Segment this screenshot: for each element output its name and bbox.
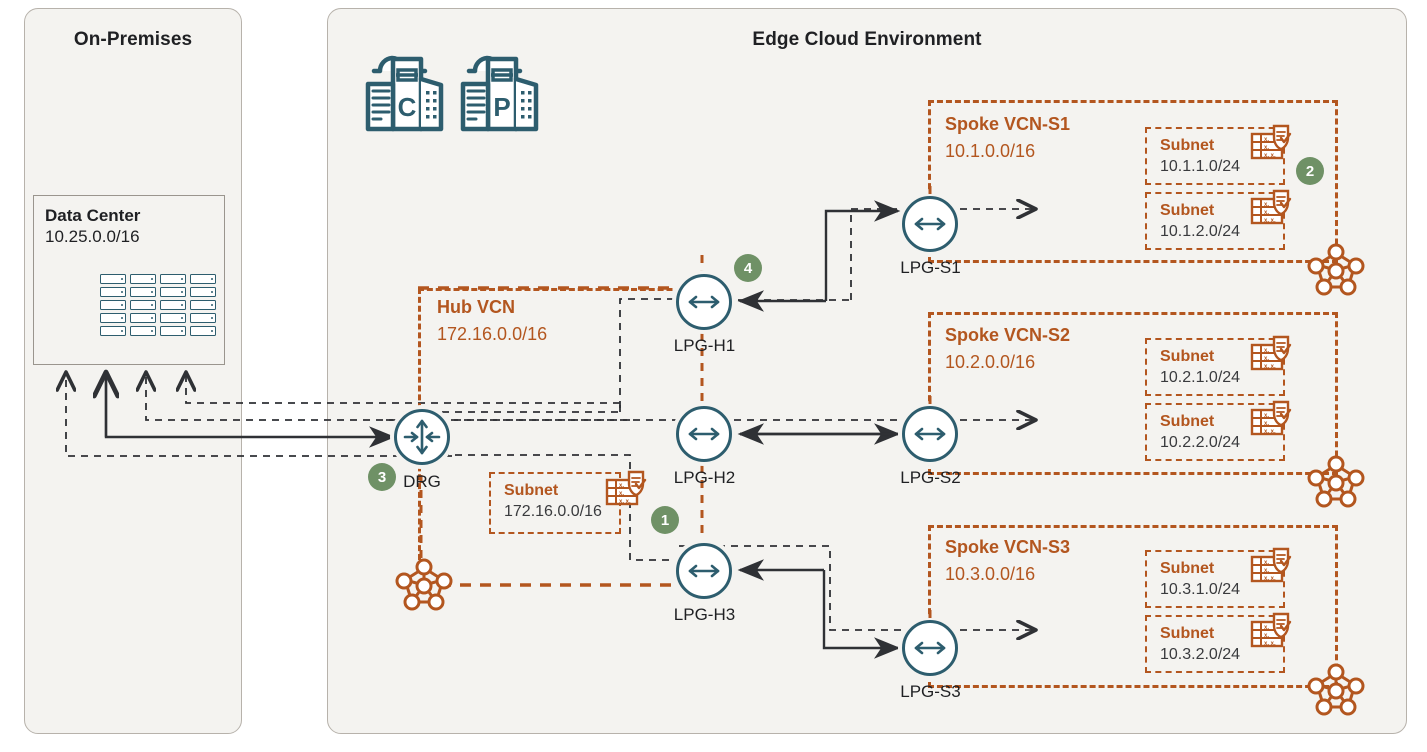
badge-1: 1 [651, 506, 679, 534]
lpg-h1-icon[interactable] [676, 274, 732, 330]
svg-text:x, x.: x, x. [1264, 218, 1276, 224]
drg-gateway-icon[interactable] [394, 409, 450, 465]
spoke-vcn-s1-name: Spoke VCN-S1 [945, 114, 1070, 135]
svg-text:x.: x. [1264, 413, 1269, 419]
svg-text:x.: x. [619, 491, 624, 497]
hub-subnet-cidr: 172.16.0.0/16 [504, 503, 602, 521]
svg-text:x.: x. [1264, 356, 1269, 362]
on-premises-panel: On-Premises [24, 8, 242, 734]
spoke-s1-subnet-1-security-list-icon: x.x.x, x. [1250, 122, 1294, 171]
data-center-cidr: 10.25.0.0/16 [45, 227, 140, 247]
badge-4: 4 [734, 254, 762, 282]
spoke-s2-subnet-1-label: Subnet [1160, 348, 1214, 366]
spoke-s3-subnet-2-cidr: 10.3.2.0/24 [1160, 646, 1240, 664]
svg-text:x.: x. [1264, 202, 1269, 208]
spoke-s1-subnet-2-label: Subnet [1160, 202, 1214, 220]
cloud-building-p-icon: P [455, 40, 541, 137]
spoke-s3-subnet-2-label: Subnet [1160, 625, 1214, 643]
lpg-h3-icon[interactable] [676, 543, 732, 599]
svg-text:x.: x. [1264, 137, 1269, 143]
svg-text:x, x.: x, x. [1264, 429, 1276, 435]
svg-text:x.: x. [1264, 210, 1269, 216]
spoke-vcn-s2-name: Spoke VCN-S2 [945, 325, 1070, 346]
svg-text:x.: x. [1264, 625, 1269, 631]
lpg-s2-vcn-link [890, 396, 980, 496]
svg-text:x.: x. [1264, 145, 1269, 151]
spoke-s1-subnet-1-cidr: 10.1.1.0/24 [1160, 158, 1240, 176]
diagram-canvas: On-Premises Edge Cloud Environment Data … [0, 0, 1427, 752]
spoke-s1-subnet-1-label: Subnet [1160, 137, 1214, 155]
route-table-s1-icon [1305, 240, 1367, 303]
hub-security-list-icon: x.x.x, x. [605, 468, 649, 517]
badge-3: 3 [368, 463, 396, 491]
route-table-hub-icon [393, 555, 455, 618]
svg-text:x.: x. [1264, 633, 1269, 639]
svg-text:x.: x. [1264, 568, 1269, 574]
on-premises-title: On-Premises [25, 29, 241, 51]
route-table-s3-icon [1305, 660, 1367, 723]
data-center-title: Data Center [45, 206, 140, 226]
spoke-s2-subnet-2-cidr: 10.2.2.0/24 [1160, 434, 1240, 452]
spoke-s3-subnet-1-label: Subnet [1160, 560, 1214, 578]
svg-text:C: C [398, 92, 417, 122]
hub-vcn-top-edge [404, 280, 704, 296]
server-rack-icon [100, 274, 216, 336]
svg-text:x, x.: x, x. [1264, 641, 1276, 647]
spoke-vcn-s1-cidr: 10.1.0.0/16 [945, 141, 1035, 162]
spoke-vcn-s3-cidr: 10.3.0.0/16 [945, 564, 1035, 585]
svg-text:x.: x. [1264, 560, 1269, 566]
svg-text:x, x.: x, x. [1264, 364, 1276, 370]
svg-text:P: P [493, 92, 510, 122]
hub-vcn-cidr: 172.16.0.0/16 [437, 324, 547, 345]
spoke-s3-subnet-1-security-list-icon: x.x.x, x. [1250, 545, 1294, 594]
lpg-h2-label: LPG-H2 [662, 468, 747, 488]
lpg-h2-icon[interactable] [676, 406, 732, 462]
spoke-s2-subnet-1-security-list-icon: x.x.x, x. [1250, 333, 1294, 382]
cloud-building-c-icon: C [360, 40, 446, 137]
spoke-s3-subnet-1-cidr: 10.3.1.0/24 [1160, 581, 1240, 599]
badge-2: 2 [1296, 157, 1324, 185]
svg-text:x.: x. [1264, 348, 1269, 354]
spoke-s1-subnet-2-security-list-icon: x.x.x, x. [1250, 187, 1294, 236]
svg-text:x.: x. [1264, 421, 1269, 427]
svg-text:x, x.: x, x. [619, 499, 631, 505]
hub-vcn-name: Hub VCN [437, 297, 515, 318]
route-table-s2-icon [1305, 452, 1367, 515]
hub-subnet-label: Subnet [504, 482, 558, 500]
data-center-box: Data Center 10.25.0.0/16 [33, 195, 225, 365]
hub-subnet-box: Subnet 172.16.0.0/16 [489, 472, 621, 534]
svg-text:x, x.: x, x. [1264, 153, 1276, 159]
spoke-s2-subnet-2-label: Subnet [1160, 413, 1214, 431]
spoke-s2-subnet-1-cidr: 10.2.1.0/24 [1160, 369, 1240, 387]
lpg-h1-label: LPG-H1 [662, 336, 747, 356]
lpg-s3-vcn-link [890, 610, 980, 710]
spoke-s2-subnet-2-security-list-icon: x.x.x, x. [1250, 398, 1294, 447]
spoke-s3-subnet-2-security-list-icon: x.x.x, x. [1250, 610, 1294, 659]
svg-text:x, x.: x, x. [1264, 576, 1276, 582]
spoke-vcn-s2-cidr: 10.2.0.0/16 [945, 352, 1035, 373]
svg-text:x.: x. [619, 483, 624, 489]
hub-route-table-link [440, 575, 690, 595]
lpg-s1-vcn-link [890, 186, 980, 286]
spoke-s1-subnet-2-cidr: 10.1.2.0/24 [1160, 223, 1240, 241]
lpg-h3-label: LPG-H3 [662, 605, 747, 625]
spoke-vcn-s3-name: Spoke VCN-S3 [945, 537, 1070, 558]
